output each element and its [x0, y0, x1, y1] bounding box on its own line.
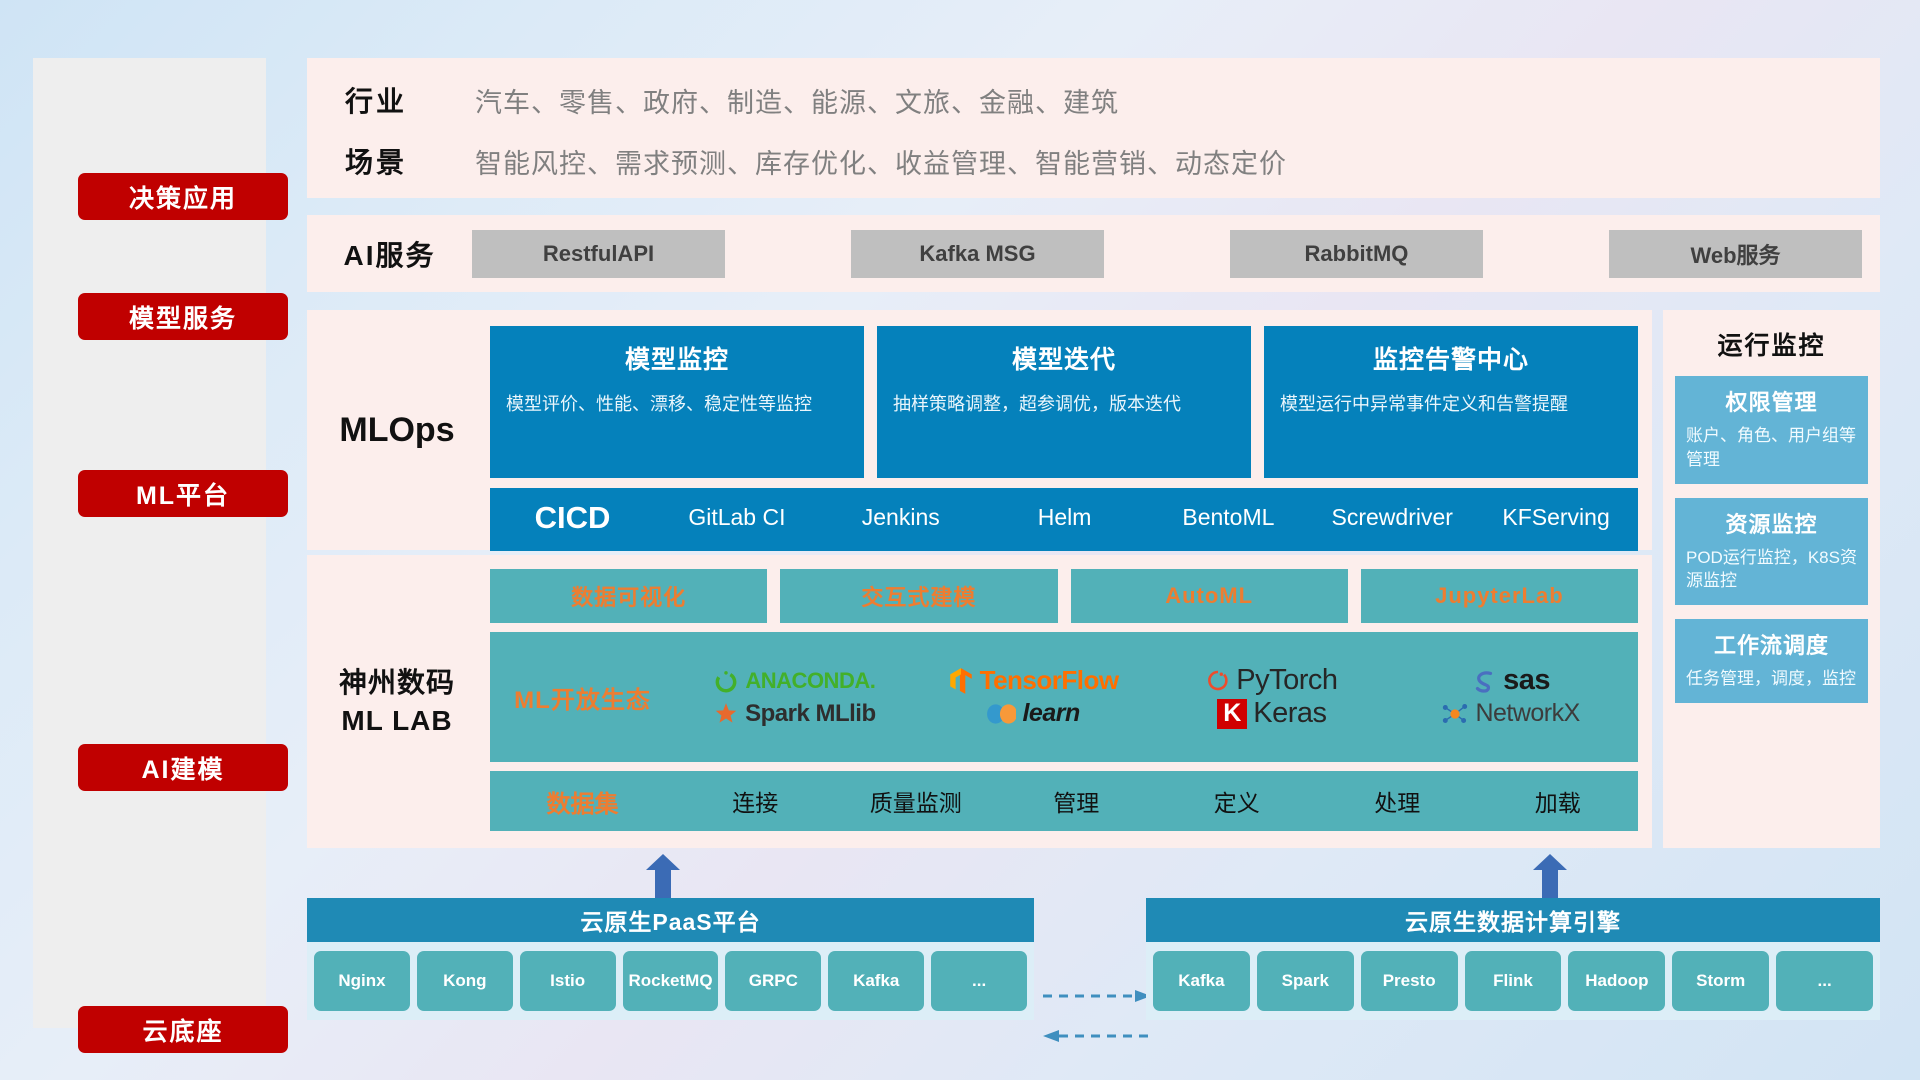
ai-service-chip-web-service[interactable]: Web服务 — [1609, 230, 1862, 278]
ai-service-chip-kafka-msg[interactable]: Kafka MSG — [851, 230, 1104, 278]
rail-item-decision-apps[interactable]: 决策应用 — [78, 173, 288, 220]
engine-chip-spark[interactable]: Spark — [1257, 951, 1354, 1011]
rail-item-label: ML平台 — [136, 476, 230, 512]
cloud-engine-group: 云原生数据计算引擎 Kafka Spark Presto Flink Hadoo… — [1146, 898, 1880, 1020]
cloud-chip-grpc[interactable]: GRPC — [725, 951, 821, 1011]
keras-wordmark: Keras — [1253, 697, 1326, 730]
ml-lab-label: 神州数码 ML LAB — [307, 555, 487, 848]
monitor-card-workflow[interactable]: 工作流调度 任务管理，调度，监控 — [1675, 619, 1868, 703]
cloud-chip-rocketmq[interactable]: RocketMQ — [623, 951, 719, 1011]
rail-item-label: 模型服务 — [129, 299, 237, 335]
card-title: 模型监控 — [506, 340, 848, 376]
engine-chip-presto[interactable]: Presto — [1361, 951, 1458, 1011]
rail-item-label: 云底座 — [142, 1012, 223, 1048]
cicd-item-kfserving[interactable]: KFServing — [1474, 488, 1638, 532]
ai-service-chip-rabbitmq[interactable]: RabbitMQ — [1230, 230, 1483, 278]
dataset-item-management[interactable]: 管理 — [996, 784, 1157, 818]
pytorch-wordmark: PyTorch — [1236, 664, 1337, 697]
arrow-up-engine-icon — [1533, 854, 1567, 898]
spark-mllib-wordmark: Spark MLlib — [745, 700, 876, 728]
mlops-card-model-monitoring[interactable]: 模型监控 模型评价、性能、漂移、稳定性等监控 — [490, 326, 864, 478]
mlops-card-model-iteration[interactable]: 模型迭代 抽样策略调整，超参调优，版本迭代 — [877, 326, 1251, 478]
application-row-scenario: 场景 智能风控、需求预测、库存优化、收益管理、智能营销、动态定价 — [345, 141, 1287, 181]
anaconda-ring-icon — [713, 668, 739, 694]
card-desc: 任务管理，调度，监控 — [1686, 667, 1857, 691]
arrow-right-dashed-icon — [1043, 988, 1151, 1004]
rail-item-ml-platform[interactable]: ML平台 — [78, 470, 288, 517]
cloud-engine-chip-list: Kafka Spark Presto Flink Hadoop Storm ..… — [1146, 942, 1880, 1020]
networkx-graph-icon — [1441, 701, 1469, 727]
dataset-bar: 数据集 连接 质量监测 管理 定义 处理 加载 — [490, 771, 1638, 831]
rail-item-cloud-base[interactable]: 云底座 — [78, 1006, 288, 1053]
monitor-card-resource[interactable]: 资源监控 POD运行监控，K8S资源监控 — [1675, 498, 1868, 606]
dataset-item-processing[interactable]: 处理 — [1317, 784, 1478, 818]
keras-logo: K Keras — [1217, 697, 1326, 730]
runtime-monitor-title: 运行监控 — [1663, 310, 1880, 362]
ml-ecosystem-box: ML开放生态 ANACONDA. TensorFlow — [490, 632, 1638, 762]
card-title: 权限管理 — [1686, 385, 1857, 417]
card-title: 监控告警中心 — [1280, 340, 1622, 376]
scikit-learn-wordmark: learn — [1022, 699, 1079, 728]
cicd-bar: CICD GitLab CI Jenkins Helm BentoML Scre… — [490, 488, 1638, 551]
engine-chip-kafka[interactable]: Kafka — [1153, 951, 1250, 1011]
ml-ecosystem-logo-grid: ANACONDA. TensorFlow PyTorch — [675, 664, 1638, 730]
mlops-label: MLOps — [307, 310, 487, 550]
dataset-title: 数据集 — [490, 784, 675, 819]
monitor-card-permission[interactable]: 权限管理 账户、角色、用户组等管理 — [1675, 376, 1868, 484]
mlops-card-list: 模型监控 模型评价、性能、漂移、稳定性等监控 模型迭代 抽样策略调整，超参调优，… — [490, 326, 1638, 478]
cloud-paas-chip-list: Nginx Kong Istio RocketMQ GRPC Kafka ... — [307, 942, 1034, 1020]
cloud-chip-more[interactable]: ... — [931, 951, 1027, 1011]
ml-ecosystem-label: ML开放生态 — [490, 680, 675, 715]
dataset-item-quality-monitoring[interactable]: 质量监测 — [836, 784, 997, 818]
tab-data-visualization[interactable]: 数据可视化 — [490, 569, 767, 623]
card-title: 模型迭代 — [893, 340, 1235, 376]
spark-star-icon — [713, 701, 739, 727]
tensorflow-mark-icon — [948, 667, 974, 695]
cicd-item-bentoml[interactable]: BentoML — [1146, 488, 1310, 532]
cloud-paas-title: 云原生PaaS平台 — [307, 898, 1034, 942]
card-title: 工作流调度 — [1686, 628, 1857, 660]
arrow-left-dashed-icon — [1043, 1028, 1151, 1044]
cicd-item-screwdriver[interactable]: Screwdriver — [1310, 488, 1474, 532]
engine-chip-hadoop[interactable]: Hadoop — [1568, 951, 1665, 1011]
dataset-item-connect[interactable]: 连接 — [675, 784, 836, 818]
ai-service-chip-restfulapi[interactable]: RestfulAPI — [472, 230, 725, 278]
ml-lab-label-line1: 神州数码 — [339, 664, 455, 702]
cicd-item-gitlab-ci[interactable]: GitLab CI — [655, 488, 819, 532]
scikit-learn-logo: learn — [986, 699, 1079, 728]
card-desc: 模型运行中异常事件定义和告警提醒 — [1280, 391, 1622, 417]
sas-logo: sas — [1471, 664, 1550, 697]
card-desc: 抽样策略调整，超参调优，版本迭代 — [893, 391, 1235, 417]
ai-service-label: AI服务 — [307, 234, 472, 274]
scenario-key: 场景 — [345, 141, 475, 181]
cloud-paas-group: 云原生PaaS平台 Nginx Kong Istio RocketMQ GRPC… — [307, 898, 1034, 1020]
ml-lab-tab-list: 数据可视化 交互式建模 AutoML JupyterLab — [490, 569, 1638, 623]
ai-service-items: RestfulAPI Kafka MSG RabbitMQ Web服务 — [472, 230, 1880, 278]
tensorflow-logo: TensorFlow — [948, 665, 1119, 696]
cloud-chip-istio[interactable]: Istio — [520, 951, 616, 1011]
anaconda-wordmark: ANACONDA. — [745, 668, 875, 694]
ai-service-band: AI服务 RestfulAPI Kafka MSG RabbitMQ Web服务 — [307, 215, 1880, 292]
networkx-wordmark: NetworkX — [1475, 699, 1579, 728]
rail-item-ai-modeling[interactable]: AI建模 — [78, 744, 288, 791]
applications-band: 行业 汽车、零售、政府、制造、能源、文旅、金融、建筑 场景 智能风控、需求预测、… — [307, 58, 1880, 198]
ml-lab-label-line2: ML LAB — [341, 702, 452, 740]
mlops-card-alert-center[interactable]: 监控告警中心 模型运行中异常事件定义和告警提醒 — [1264, 326, 1638, 478]
left-rail: 决策应用 模型服务 ML平台 AI建模 云底座 — [33, 58, 266, 1028]
tab-jupyterlab[interactable]: JupyterLab — [1361, 569, 1638, 623]
runtime-monitor-panel: 运行监控 权限管理 账户、角色、用户组等管理 资源监控 POD运行监控，K8S资… — [1663, 310, 1880, 848]
cicd-item-helm[interactable]: Helm — [983, 488, 1147, 532]
mlops-band: MLOps 模型监控 模型评价、性能、漂移、稳定性等监控 模型迭代 抽样策略调整… — [307, 310, 1652, 550]
application-row-industry: 行业 汽车、零售、政府、制造、能源、文旅、金融、建筑 — [345, 80, 1119, 120]
dataset-item-loading[interactable]: 加载 — [1478, 784, 1639, 818]
networkx-logo: NetworkX — [1441, 699, 1579, 728]
rail-item-model-service[interactable]: 模型服务 — [78, 293, 288, 340]
cicd-item-jenkins[interactable]: Jenkins — [819, 488, 983, 532]
card-desc: 模型评价、性能、漂移、稳定性等监控 — [506, 391, 848, 417]
pytorch-logo: PyTorch — [1206, 664, 1337, 697]
arrow-up-paas-icon — [646, 854, 680, 898]
industry-key: 行业 — [345, 80, 475, 120]
cloud-chip-nginx[interactable]: Nginx — [314, 951, 410, 1011]
cloud-engine-title: 云原生数据计算引擎 — [1146, 898, 1880, 942]
engine-chip-storm[interactable]: Storm — [1672, 951, 1769, 1011]
cloud-chip-kafka[interactable]: Kafka — [828, 951, 924, 1011]
spark-mllib-logo: Spark MLlib — [713, 700, 876, 728]
rail-item-label: 决策应用 — [129, 179, 237, 215]
sas-swirl-icon — [1471, 668, 1497, 694]
dataset-item-definition[interactable]: 定义 — [1157, 784, 1318, 818]
scikit-blob-icon — [986, 701, 1016, 727]
engine-chip-more[interactable]: ... — [1776, 951, 1873, 1011]
anaconda-logo: ANACONDA. — [713, 668, 875, 694]
card-desc: 账户、角色、用户组等管理 — [1686, 424, 1857, 472]
card-desc: POD运行监控，K8S资源监控 — [1686, 546, 1857, 594]
scenario-value: 智能风控、需求预测、库存优化、收益管理、智能营销、动态定价 — [475, 142, 1287, 181]
cloud-chip-kong[interactable]: Kong — [417, 951, 513, 1011]
tab-interactive-modeling[interactable]: 交互式建模 — [780, 569, 1057, 623]
tensorflow-wordmark: TensorFlow — [980, 665, 1119, 696]
engine-chip-flink[interactable]: Flink — [1465, 951, 1562, 1011]
cicd-title: CICD — [490, 488, 655, 536]
tab-automl[interactable]: AutoML — [1071, 569, 1348, 623]
card-title: 资源监控 — [1686, 507, 1857, 539]
keras-k-icon: K — [1217, 699, 1247, 729]
pytorch-flame-icon — [1206, 668, 1230, 694]
sas-wordmark: sas — [1503, 664, 1550, 697]
industry-value: 汽车、零售、政府、制造、能源、文旅、金融、建筑 — [475, 81, 1119, 120]
rail-item-label: AI建模 — [141, 750, 224, 786]
ml-lab-band: 神州数码 ML LAB 数据可视化 交互式建模 AutoML JupyterLa… — [307, 555, 1652, 848]
